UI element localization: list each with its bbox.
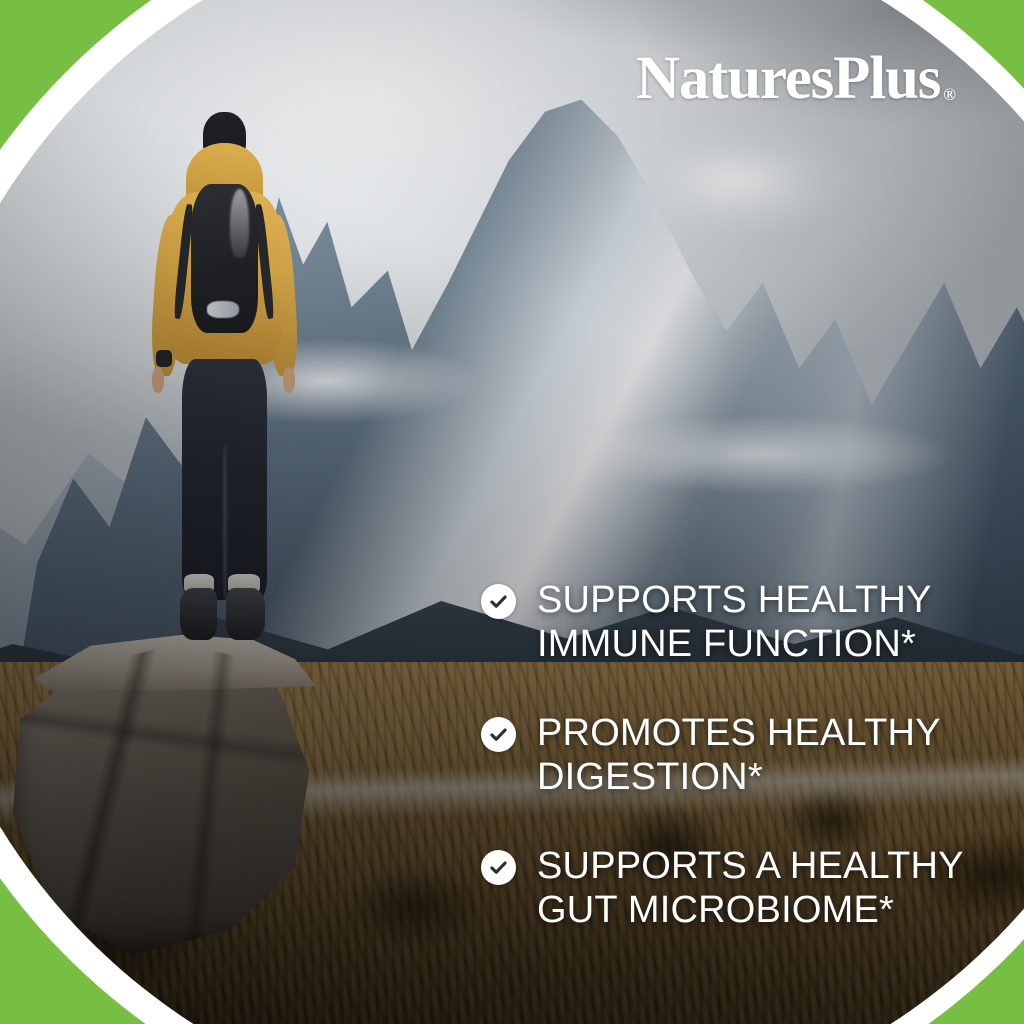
benefit-item-digestion: PROMOTES HEALTHY DIGESTION* xyxy=(481,711,1001,800)
benefit-item-microbiome: SUPPORTS A HEALTHY GUT MICROBIOME* xyxy=(481,844,1001,933)
benefit-item-immune: SUPPORTS HEALTHY IMMUNE FUNCTION* xyxy=(481,578,1001,667)
registered-trademark-icon: ® xyxy=(943,86,956,103)
brand-logo: NaturesPlus ® xyxy=(636,48,956,109)
benefit-label: PROMOTES HEALTHY DIGESTION* xyxy=(537,711,977,800)
brand-logo-text: NaturesPlus xyxy=(636,48,940,109)
benefit-label: SUPPORTS A HEALTHY GUT MICROBIOME* xyxy=(537,844,977,933)
benefits-list: SUPPORTS HEALTHY IMMUNE FUNCTION* PROMOT… xyxy=(481,578,1001,933)
benefit-label: SUPPORTS HEALTHY IMMUNE FUNCTION* xyxy=(537,578,977,667)
check-circle-icon xyxy=(481,584,516,619)
check-circle-icon xyxy=(481,850,516,885)
product-marketing-banner: NaturesPlus ® SUPPORTS HEALTHY IMMUNE FU… xyxy=(0,0,1024,1024)
check-circle-icon xyxy=(481,717,516,752)
